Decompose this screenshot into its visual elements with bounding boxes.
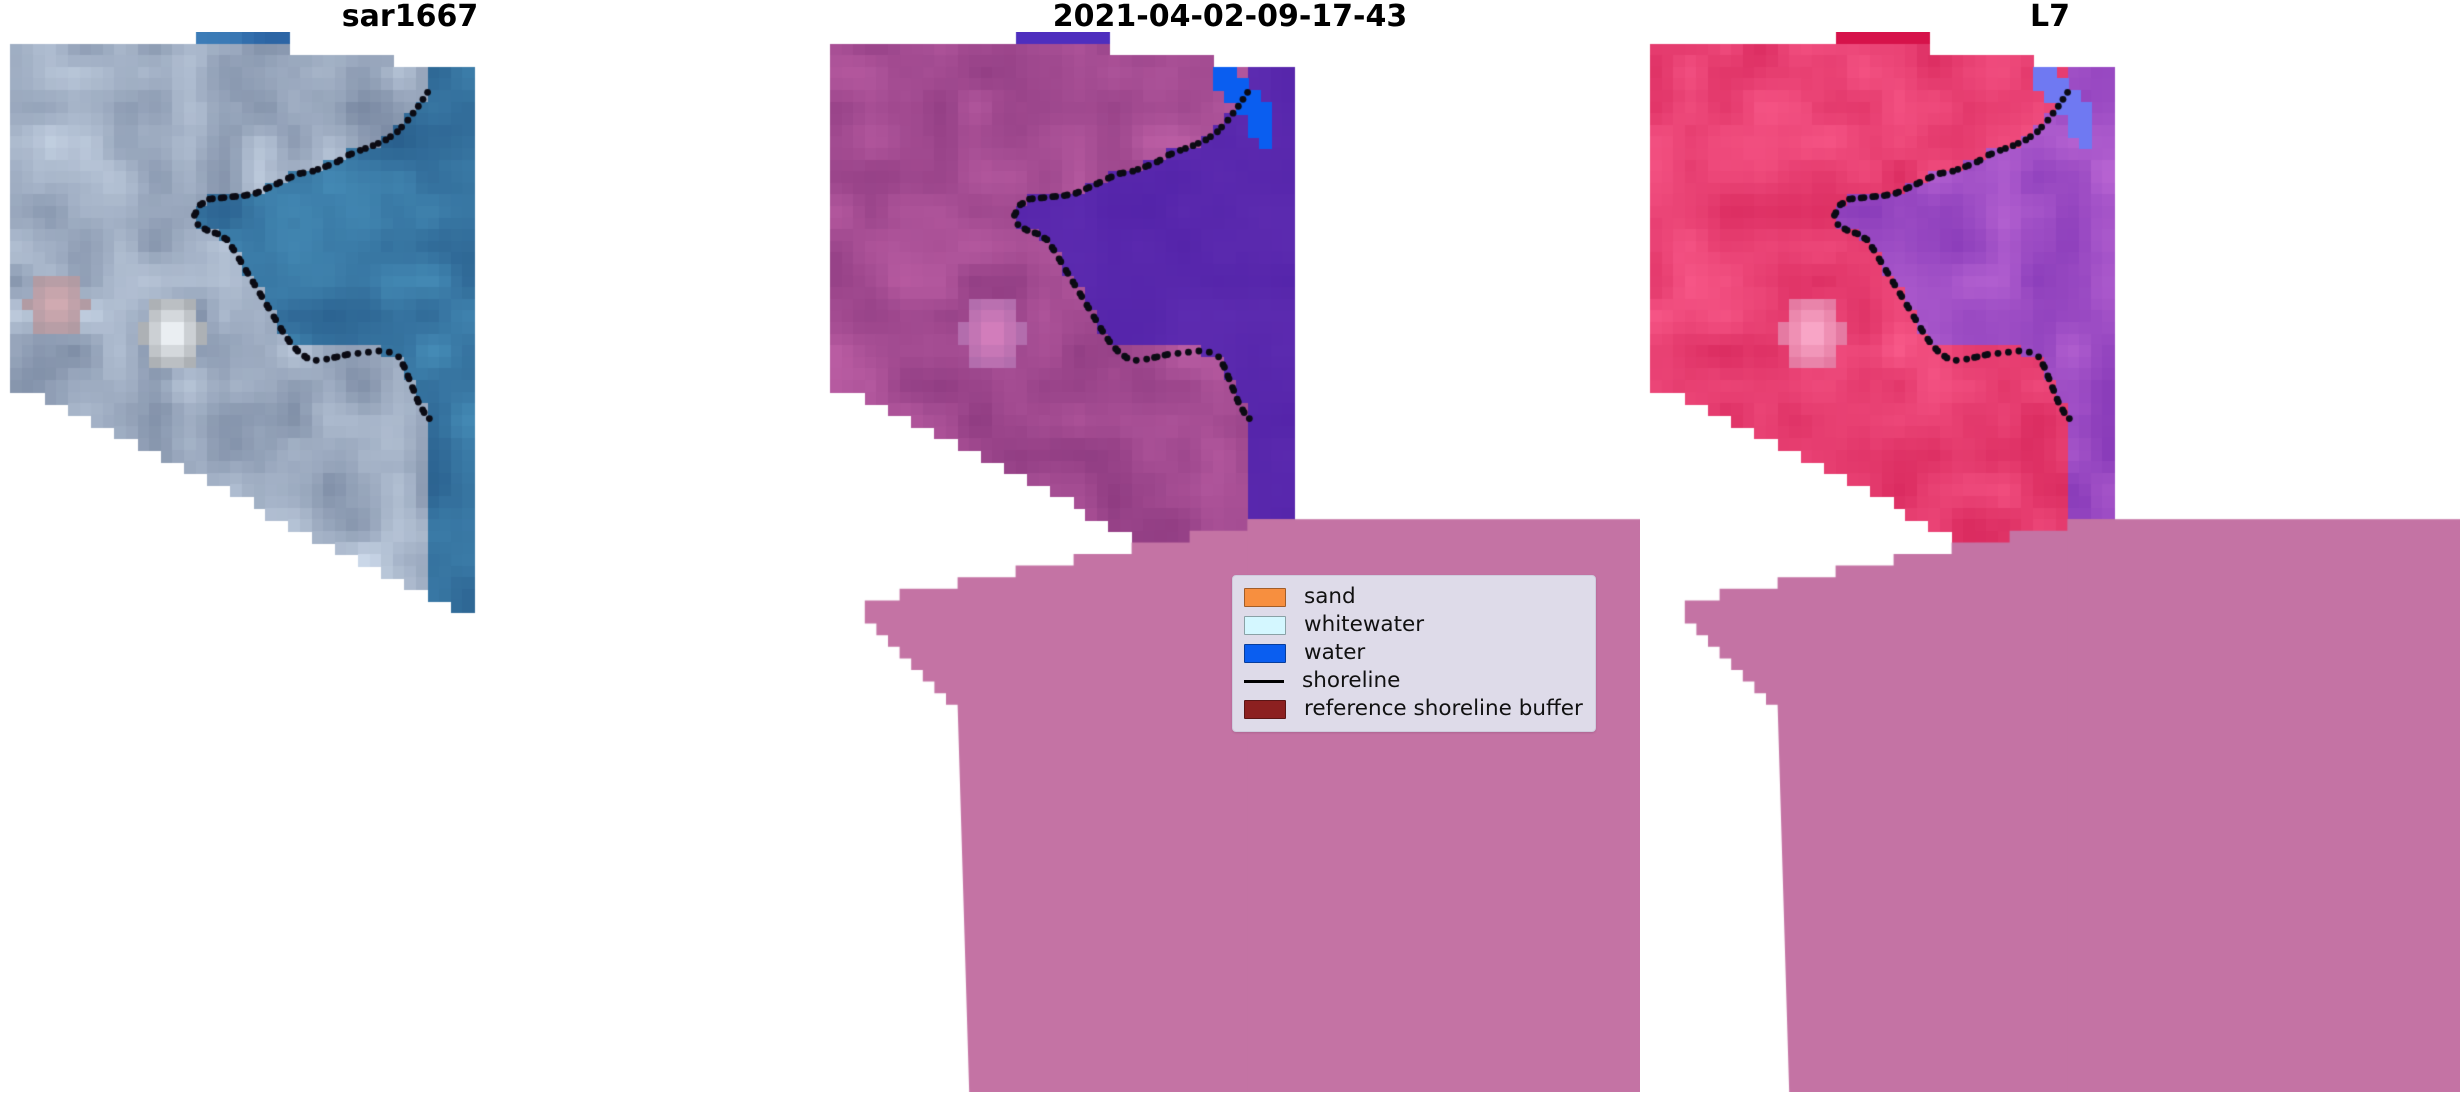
legend-item-water: water xyxy=(1244,639,1583,667)
raster-image-sar1667 xyxy=(0,32,820,1092)
legend-item-sand: sand xyxy=(1244,583,1583,611)
legend-swatch-reference-shoreline-buffer xyxy=(1244,700,1286,719)
raster-image-date xyxy=(820,32,1640,1092)
legend-item-reference-shoreline-buffer: reference shoreline buffer xyxy=(1244,695,1583,723)
raster-image-l7 xyxy=(1640,32,2460,1092)
legend-label-whitewater: whitewater xyxy=(1304,614,1424,636)
panel-l7: L7 xyxy=(1640,0,2460,1096)
raster-canvas-sar1667 xyxy=(0,32,820,1092)
legend-label-reference-shoreline-buffer: reference shoreline buffer xyxy=(1304,698,1583,720)
legend-label-shoreline: shoreline xyxy=(1302,670,1400,692)
panel-date: 2021-04-02-09-17-43 sand whitewater wate… xyxy=(820,0,1640,1096)
legend-swatch-shoreline xyxy=(1244,680,1284,683)
panel-title-l7: L7 xyxy=(1640,2,2460,32)
panel-title-sar1667: sar1667 xyxy=(0,2,820,32)
legend-label-water: water xyxy=(1304,642,1365,664)
legend-item-shoreline: shoreline xyxy=(1244,667,1583,695)
legend-label-sand: sand xyxy=(1304,586,1356,608)
legend-swatch-sand xyxy=(1244,588,1286,607)
raster-canvas-date: sand whitewater water shoreline referenc… xyxy=(820,32,1640,1092)
panel-title-date: 2021-04-02-09-17-43 xyxy=(820,2,1640,32)
legend-box: sand whitewater water shoreline referenc… xyxy=(1232,575,1596,732)
legend-swatch-water xyxy=(1244,644,1286,663)
legend-item-whitewater: whitewater xyxy=(1244,611,1583,639)
figure-canvas: sar1667 2021-04-02-09-17-43 sand whitewa… xyxy=(0,0,2460,1096)
raster-canvas-l7 xyxy=(1640,32,2460,1092)
legend-swatch-whitewater xyxy=(1244,616,1286,635)
panel-sar1667: sar1667 xyxy=(0,0,820,1096)
